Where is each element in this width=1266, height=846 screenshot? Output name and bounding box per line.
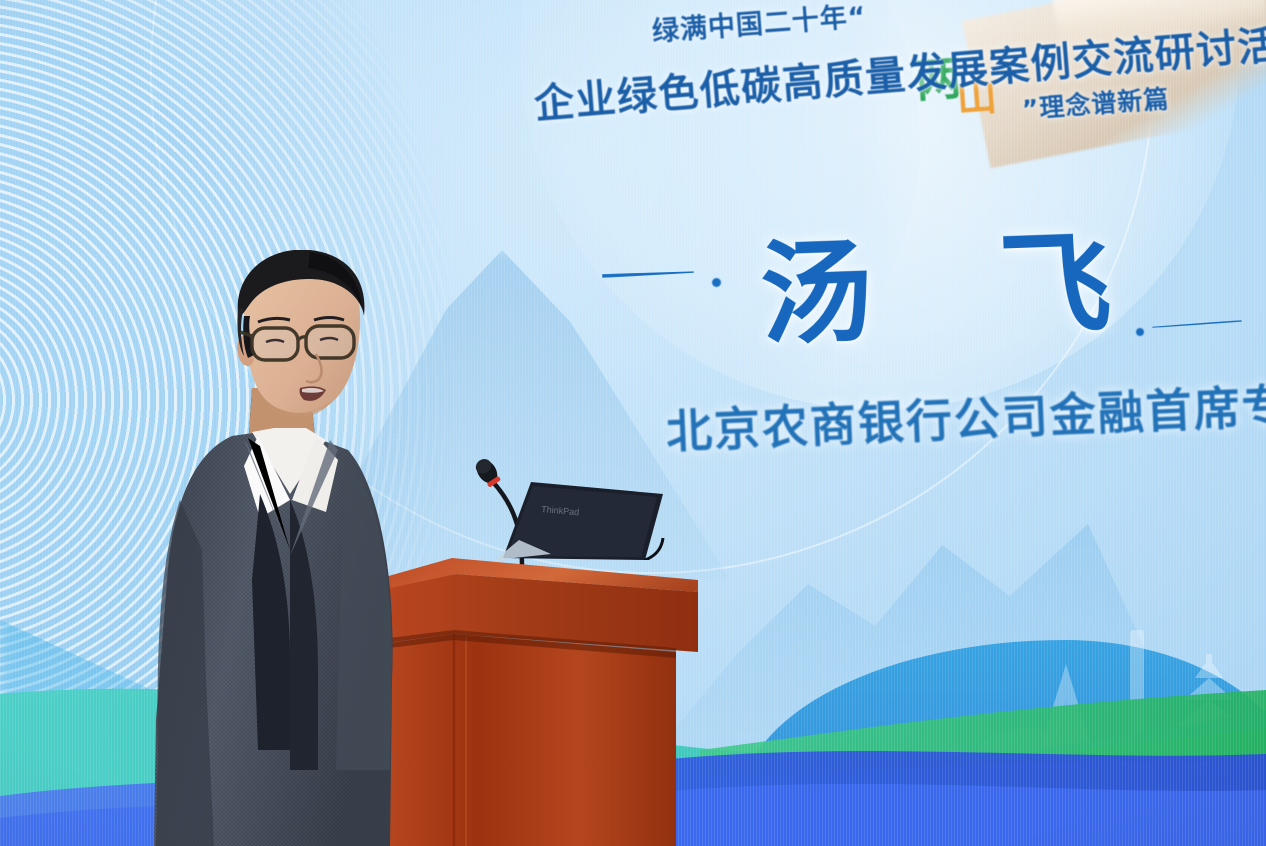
name-dot-left xyxy=(712,278,721,287)
screenshot-stage: 绿满中国二十年“ 两山 ”理念谱新篇 企业绿色低碳高质量发展案例交流研讨活动 汤… xyxy=(0,0,1266,846)
laptop-thinkpad[interactable]: ThinkPad xyxy=(495,468,670,560)
name-dot-right xyxy=(1136,328,1144,336)
speaker-person xyxy=(140,250,470,846)
speaker-name: 汤 飞 xyxy=(757,191,1157,367)
